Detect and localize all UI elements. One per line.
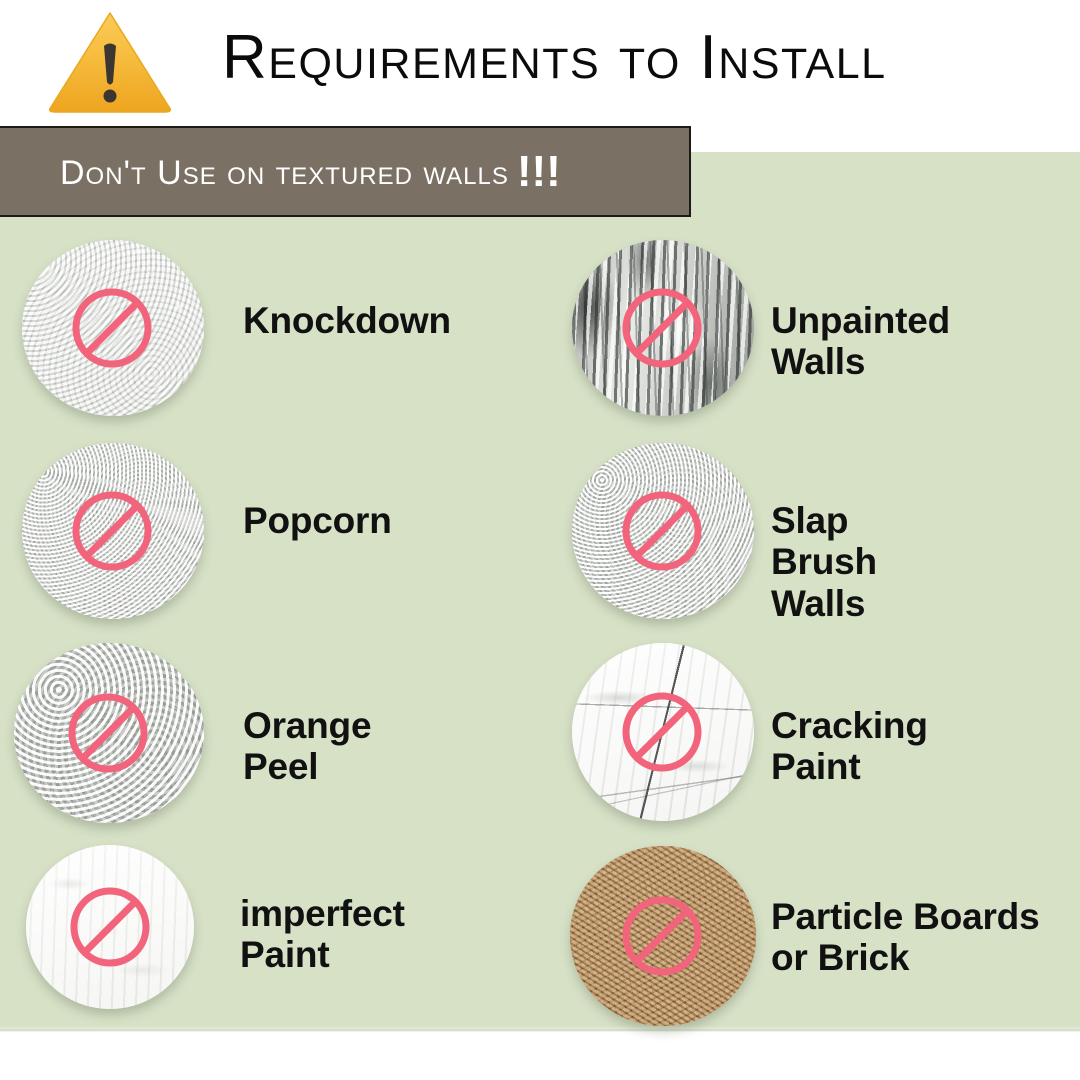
list-item-label: Knockdown	[243, 300, 451, 341]
texture-swatch-cracking	[572, 643, 754, 821]
texture-swatch-orangepeel	[14, 643, 204, 823]
texture-swatch-particle	[570, 846, 756, 1026]
infographic-page: Requirements to Install Don't Use on tex…	[0, 0, 1080, 1080]
list-item-label: Orange Peel	[243, 705, 371, 788]
panel-bottom-edge	[0, 1026, 1080, 1032]
list-item-label: Particle Boards or Brick	[771, 896, 1071, 979]
list-item-label: imperfect Paint	[240, 893, 405, 976]
warning-banner-exclamations: !!!	[517, 147, 561, 196]
list-item-label: Cracking Paint	[771, 705, 928, 788]
page-title: Requirements to Install	[222, 16, 1002, 100]
texture-swatch-knockdown	[22, 240, 204, 416]
warning-triangle-icon	[45, 8, 175, 116]
texture-swatch-popcorn	[22, 443, 204, 619]
list-item-label: Popcorn	[243, 500, 392, 541]
warning-banner: Don't Use on textured walls!!!	[0, 126, 691, 217]
texture-swatch-unpainted	[572, 240, 754, 416]
list-item-label: Unpainted Walls	[771, 300, 950, 383]
warning-banner-text: Don't Use on textured walls!!!	[60, 147, 561, 197]
list-item-label: Slap Brush Walls	[771, 500, 877, 624]
warning-banner-label: Don't Use on textured walls	[60, 154, 509, 192]
texture-swatch-slapbrush	[572, 443, 754, 619]
texture-swatch-imperfect	[26, 845, 194, 1009]
